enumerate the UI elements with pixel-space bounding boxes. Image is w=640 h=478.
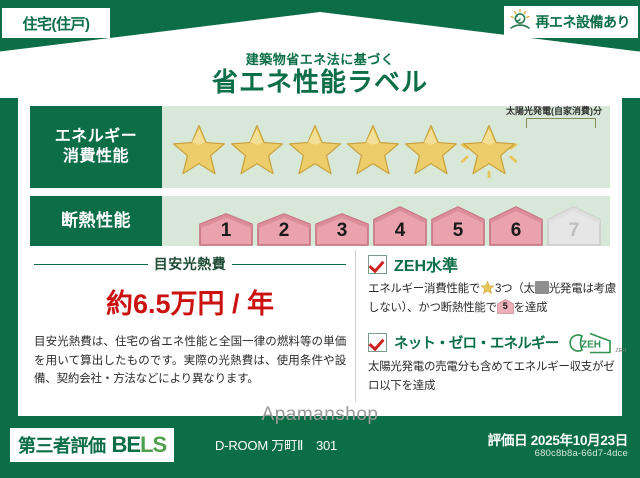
label-card: エネルギー 消費性能 太陽光発電(自家消費)分 断熱性能 1234567 目安光…	[18, 96, 622, 416]
check-net-zero-energy: ネット・ゼロ・エネルギー ZEH ZEH 太陽光発電の売電分も含めてエネルギー収…	[368, 332, 616, 396]
solar-self-consumption-note: 太陽光発電(自家消費)分	[506, 104, 602, 117]
check-zeh-standard: ZEH水準 エネルギー消費性能で3つ（太光発電は考慮しない）、かつ断熱性能で5を…	[368, 252, 616, 318]
insulation-house-on: 1	[198, 213, 254, 246]
insulation-house-on: 4	[372, 206, 428, 246]
zeh-logo-icon: ZEH ZEH	[567, 332, 613, 354]
utility-cost-note: 目安光熱費は、住宅の省エネ性能と全国一律の燃料等の単価を用いて算出したものです。…	[34, 333, 346, 389]
watermark: Apamanshop	[0, 404, 640, 426]
evaluation-id: 680c8b8a-66d7-4dce	[535, 448, 628, 459]
zeh-desc-masked-tail: 光発電	[549, 283, 583, 295]
energy-label-line2: 消費性能	[63, 147, 129, 167]
zeh-desc-star-count: 3つ（太	[495, 283, 535, 295]
insulation-house-on: 6	[488, 206, 544, 246]
masked-text-block	[535, 281, 549, 294]
zeh-desc-part1: エネルギー消費性能で	[368, 283, 480, 295]
net-zero-description: 太陽光発電の売電分も含めてエネルギー収支がゼロ以下を達成	[368, 358, 616, 396]
bels-logo-b: LS	[140, 432, 166, 457]
bels-logo-a: BE	[112, 432, 141, 457]
column-divider	[355, 250, 356, 402]
energy-performance-row: エネルギー 消費性能 太陽光発電(自家消費)分	[30, 106, 610, 188]
page-title: 省エネ性能ラベル	[212, 69, 428, 96]
insulation-house-on: 3	[314, 213, 370, 246]
zeh-logo-subtext: ZEH	[615, 348, 626, 354]
zeh-desc-part3: を達成	[514, 302, 548, 314]
energy-stars-area: 太陽光発電(自家消費)分	[162, 106, 610, 188]
energy-label-line1: エネルギー	[55, 127, 138, 147]
star-filled	[344, 122, 402, 178]
inline-star-icon	[480, 280, 495, 295]
utility-cost-heading: 目安光熱費	[34, 254, 346, 274]
star-solar	[460, 122, 518, 178]
title-block: 建築物省エネ法に基づく 省エネ性能ラベル	[0, 12, 640, 98]
certification-checks: ZEH水準 エネルギー消費性能で3つ（太光発電は考慮しない）、かつ断熱性能で5を…	[368, 252, 616, 396]
net-zero-header: ネット・ゼロ・エネルギー ZEH ZEH	[368, 332, 616, 354]
third-party-eval-label: 第三者評価	[18, 432, 106, 458]
zeh-standard-header: ZEH水準	[368, 252, 616, 276]
utility-cost-value: 約6.5万円 / 年	[34, 282, 346, 321]
insulation-house-scale: 1234567	[162, 196, 610, 246]
title-subtitle: 建築物省エネ法に基づく	[246, 49, 395, 68]
evaluation-date: 評価日 2025年10月23日	[488, 429, 628, 449]
insulation-house-on: 5	[430, 206, 486, 246]
check-icon	[368, 333, 387, 352]
property-unit-name: D-ROOM 万町Ⅱ 301	[215, 435, 337, 454]
zeh-standard-description: エネルギー消費性能で3つ（太光発電は考慮しない）、かつ断熱性能で5を達成	[368, 280, 616, 318]
inline-house-icon: 5	[497, 299, 514, 314]
star-filled	[286, 122, 344, 178]
svg-text:ZEH: ZEH	[581, 339, 601, 350]
insulation-house-off: 7	[546, 206, 602, 246]
check-icon	[368, 255, 387, 274]
bels-logo: BELS	[112, 432, 167, 458]
star-filled	[402, 122, 460, 178]
net-zero-title: ネット・ゼロ・エネルギー	[394, 332, 558, 353]
heading-rule-left	[34, 264, 148, 265]
utility-cost-section: 目安光熱費 約6.5万円 / 年 目安光熱費は、住宅の省エネ性能と全国一律の燃料…	[34, 254, 346, 389]
heading-rule-right	[232, 264, 346, 265]
star-filled	[228, 122, 286, 178]
zeh-standard-title: ZEH水準	[394, 252, 458, 276]
inline-house-number: 5	[497, 299, 514, 314]
bels-badge: 第三者評価 BELS	[10, 428, 174, 462]
star-filled	[170, 122, 228, 178]
insulation-performance-label: 断熱性能	[30, 196, 162, 246]
label-root: 住宅(住戸) 再エネ設備あり 建築物省エネ法に基づく 省エネ性能ラベル	[0, 0, 640, 478]
insulation-house-on: 2	[256, 213, 312, 246]
energy-performance-label: エネルギー 消費性能	[30, 106, 162, 188]
utility-cost-heading-text: 目安光熱費	[154, 254, 227, 274]
footer-bar: 第三者評価 BELS D-ROOM 万町Ⅱ 301 評価日 2025年10月23…	[0, 424, 640, 478]
insulation-performance-row: 断熱性能 1234567	[30, 196, 610, 246]
star-rating	[170, 122, 518, 178]
solar-bracket	[526, 118, 596, 128]
